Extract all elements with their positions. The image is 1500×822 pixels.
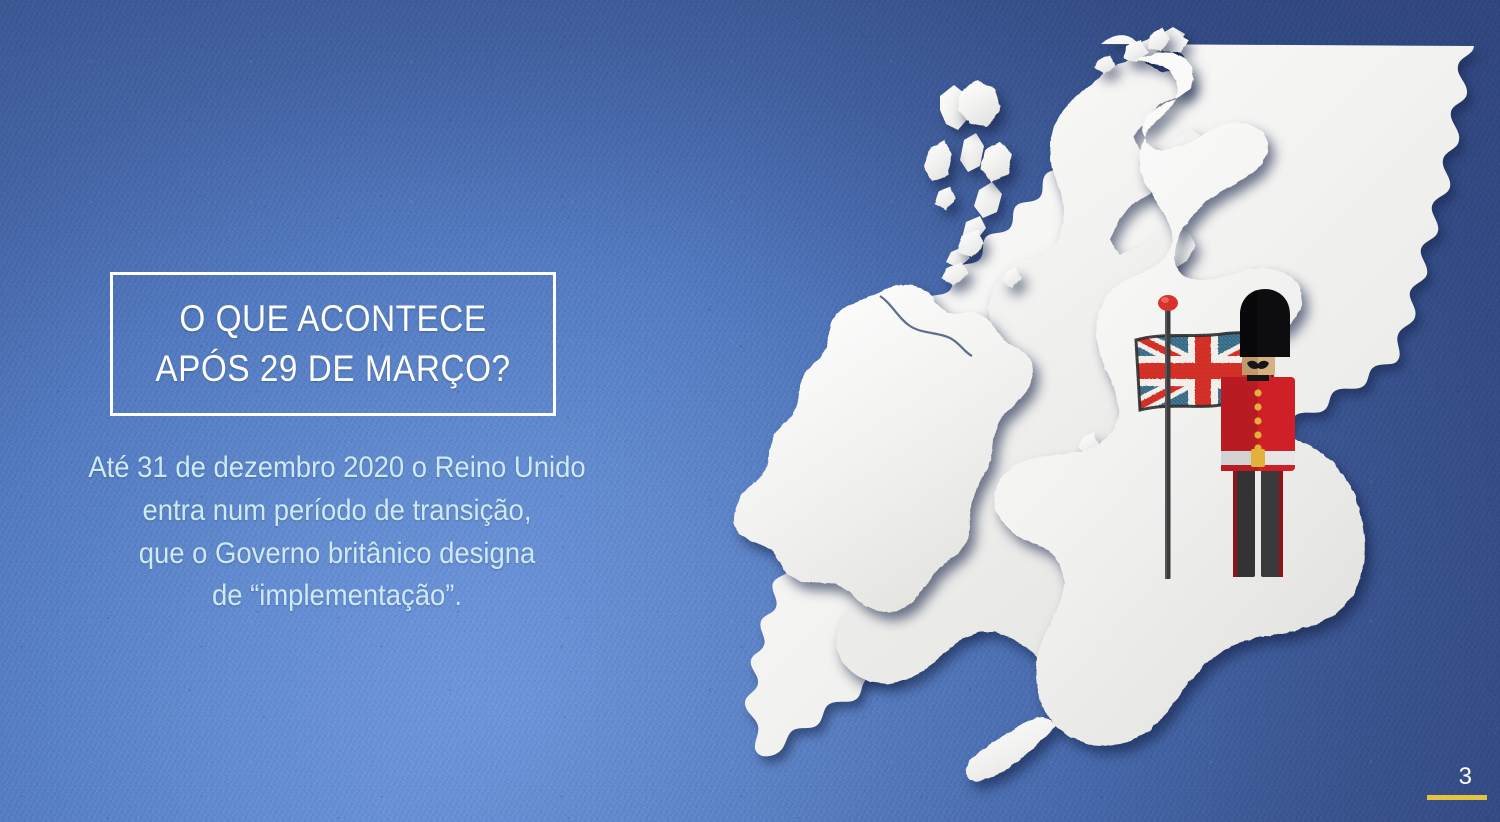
page-number: 3 xyxy=(1412,765,1472,789)
title-frame xyxy=(110,272,556,416)
body-line-4: de “implementação”. xyxy=(72,575,602,618)
isle-skye xyxy=(980,142,1012,182)
hebrides-barra xyxy=(934,186,956,210)
body-paragraph: Até 31 de dezembro 2020 o Reino Unido en… xyxy=(72,447,602,618)
ireland-mainland xyxy=(734,285,1033,612)
body-line-2: entra num período de transição, xyxy=(72,490,602,533)
body-line-1: Até 31 de dezembro 2020 o Reino Unido xyxy=(72,447,602,490)
isle-arran xyxy=(1002,266,1022,288)
flag-pole xyxy=(1158,295,1178,579)
orkney-isle-b xyxy=(1094,56,1116,74)
body-line-3: que o Governo britânico designa xyxy=(72,533,602,576)
queens-guard-figure xyxy=(1135,285,1295,585)
guard-bearskin-hat xyxy=(1240,289,1290,357)
hebrides-lewis xyxy=(958,80,1000,126)
pole-finial xyxy=(1158,295,1178,311)
isle-islay xyxy=(942,262,968,286)
shetland-isle xyxy=(1148,28,1170,52)
slide-canvas: O QUE ACONTECE APÓS 29 DE MARÇO? Até 31 … xyxy=(0,0,1500,822)
isle-mull xyxy=(958,230,984,258)
guard-tunic xyxy=(1221,371,1295,471)
guard-belt-buckle xyxy=(1251,449,1265,467)
hebrides-uist xyxy=(924,140,952,182)
guard-legs xyxy=(1233,467,1283,577)
cornwall-peninsula xyxy=(966,718,1056,782)
page-number-underline xyxy=(1427,795,1487,800)
